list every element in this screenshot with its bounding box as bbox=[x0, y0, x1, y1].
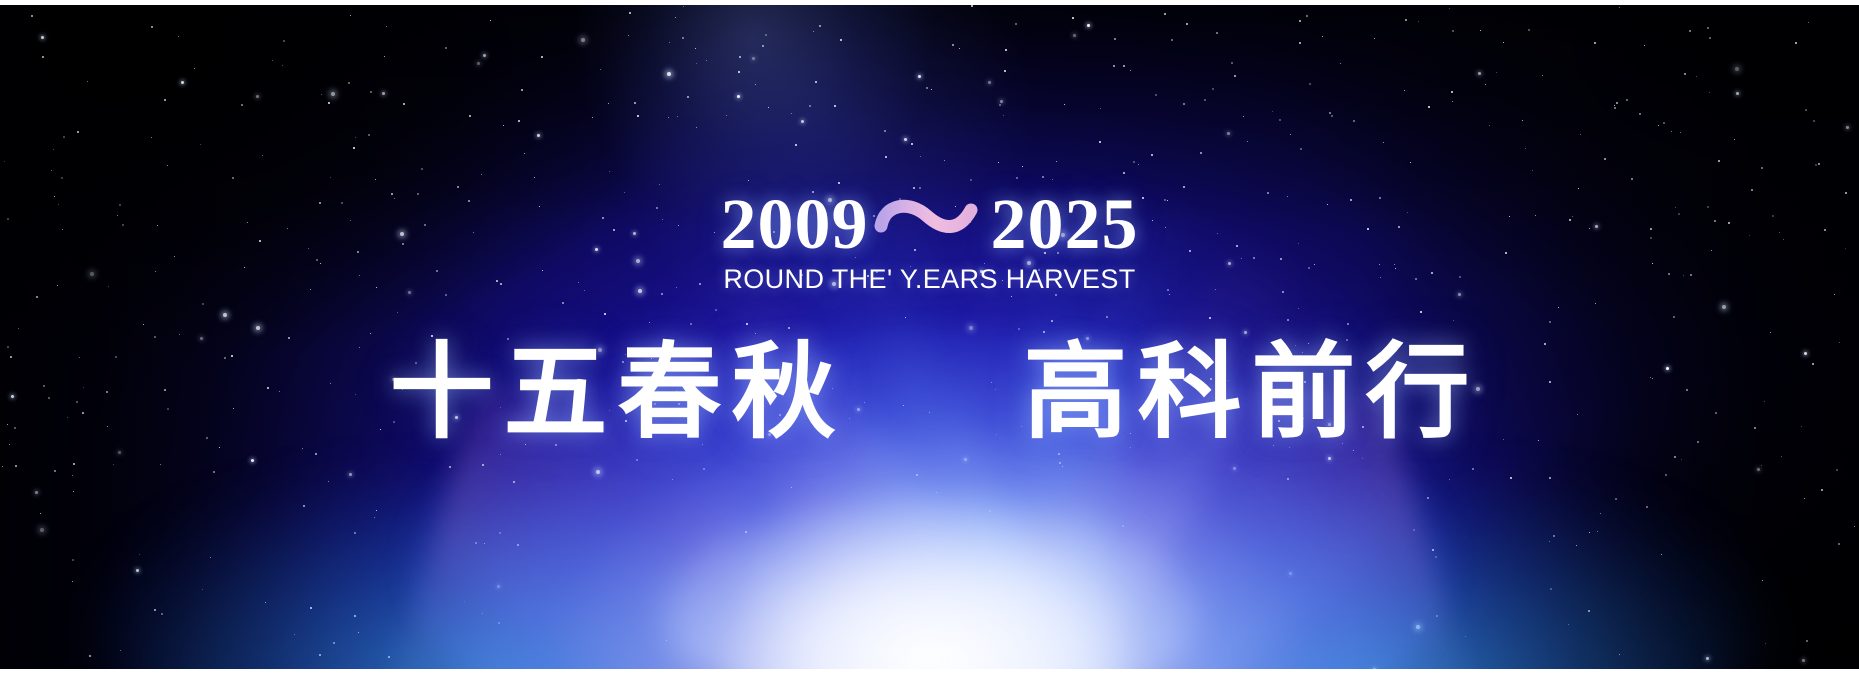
banner-headline: 十五春秋 高科前行 bbox=[0, 336, 1859, 448]
headline-left: 十五春秋 bbox=[379, 336, 845, 448]
banner-content: 2009 2025 ROUND THE' Y.EARS HA bbox=[0, 0, 1859, 680]
letterbox-top bbox=[0, 0, 1859, 5]
start-year: 2009 bbox=[721, 188, 869, 260]
end-year: 2025 bbox=[991, 188, 1139, 260]
letterbox-bottom bbox=[0, 669, 1859, 680]
year-range: 2009 2025 bbox=[0, 188, 1859, 260]
anniversary-banner: 2009 2025 ROUND THE' Y.EARS HA bbox=[0, 0, 1859, 680]
wave-tilde-icon bbox=[873, 189, 989, 255]
banner-subtitle: ROUND THE' Y.EARS HARVEST bbox=[0, 264, 1859, 295]
headline-right: 高科前行 bbox=[1014, 336, 1480, 448]
